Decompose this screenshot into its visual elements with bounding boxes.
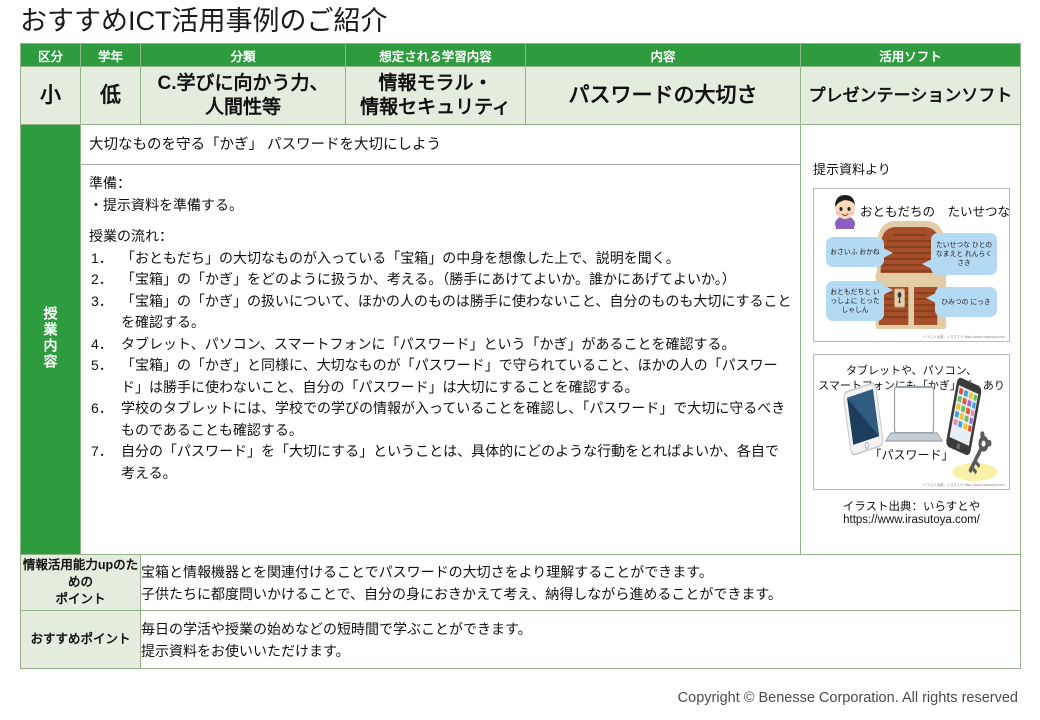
lesson-body: 準備： ・提示資料を準備する。 授業の流れ： 1．「おともだち」の大切なものが入… — [81, 165, 800, 490]
recommend-point-line-1: 提示資料をお使いいただけます。 — [141, 640, 1020, 662]
value-gakunen: 低 — [81, 67, 141, 125]
page-title: おすすめICT活用事例のご紹介 — [20, 3, 388, 39]
value-gakushu-line2: 情報セキュリティ — [346, 96, 525, 120]
callout-contact-text: たいせつな ひとの なまえと れんらくさき — [934, 241, 994, 268]
illustration-source-note: イラスト出典：いらすとや https://www.irasutoya.com/ — [813, 498, 1010, 526]
lesson-title: 大切なものを守る「かぎ」 パスワードを大切にしよう — [81, 125, 800, 165]
devices-graphic — [814, 355, 1009, 489]
step-number: 5． — [91, 355, 119, 377]
table-header-row: 区分 学年 分類 想定される学習内容 内容 活用ソフト — [21, 44, 1021, 67]
row-label-lesson-content: 授業内容 — [21, 125, 81, 555]
value-gakushu-naiyou: 情報モラル・ 情報セキュリティ — [346, 67, 526, 125]
value-bunrui-line2: 人間性等 — [141, 96, 345, 120]
lesson-body-cell: 大切なものを守る「かぎ」 パスワードを大切にしよう 準備： ・提示資料を準備する… — [81, 125, 801, 555]
lesson-steps-list: 1．「おともだち」の大切なものが入っている「宝箱」の中身を想像した上で、説明を聞… — [89, 248, 792, 485]
smartphone-icon — [945, 376, 982, 456]
laptop-icon — [886, 387, 943, 441]
list-item: 5．「宝箱」の「かぎ」と同様に、大切なものが「パスワード」で守られていること、ほ… — [89, 355, 792, 398]
media-caption: 提示資料より — [813, 159, 1010, 178]
bottom-row-skill-point: 情報活用能力upのための ポイント 宝箱と情報機器とを関連付けることでパスワード… — [21, 555, 1021, 611]
row-text-skill-point: 宝箱と情報機器とを関連付けることでパスワードの大切さをより理解することができます… — [141, 555, 1021, 611]
col-header-katsuyou-soft: 活用ソフト — [801, 44, 1021, 67]
callout-wallet: おさいふ おかね — [826, 237, 884, 267]
password-label: 「パスワード」 — [814, 446, 1009, 463]
copyright-footer: Copyright © Benesse Corporation. All rig… — [678, 690, 1018, 706]
lesson-content-row: 授業内容 大切なものを守る「かぎ」 パスワードを大切にしよう 準備： ・提示資料… — [21, 125, 1021, 555]
list-item: 3．「宝箱」の「かぎ」の扱いについて、ほかの人のものは勝手に使わないこと、自分の… — [89, 291, 792, 334]
row-label-skill-point: 情報活用能力upのための ポイント — [21, 555, 141, 611]
media-panel: 提示資料より — [801, 125, 1021, 555]
col-header-bunrui: 分類 — [141, 44, 346, 67]
bottom-row-recommend-point: おすすめポイント 毎日の学活や授業の始めなどの短時間で学ぶことができます。 提示… — [21, 611, 1021, 669]
value-katsuyou-soft: プレゼンテーションソフト — [801, 67, 1021, 125]
value-naiyou: パスワードの大切さ — [526, 67, 801, 125]
value-bunrui: C.学びに向かう力、 人間性等 — [141, 67, 346, 125]
callout-photo-text: おともだちと いっしょに とった しゃしん — [829, 288, 881, 315]
flow-heading: 授業の流れ： — [89, 226, 792, 248]
step-text: 学校のタブレットには、学校での学びの情報が入っていることを確認し、「パスワード」… — [121, 400, 785, 438]
col-header-gakushu-naiyou: 想定される学習内容 — [346, 44, 526, 67]
col-header-naiyou: 内容 — [526, 44, 801, 67]
slide-page: おすすめICT活用事例のご紹介 区分 学年 分類 想定される学習内容 内容 活用… — [0, 0, 1040, 720]
row-label-skill-point-line2: ポイント — [21, 591, 140, 608]
row-label-skill-point-line1: 情報活用能力upのための — [21, 557, 140, 591]
step-number: 7． — [91, 441, 119, 463]
illustration-treasure-chest: おともだちの たいせつなもの — [813, 188, 1010, 342]
illustration2-credit: イラスト出典：いらすとや https://www.irasutoya.com/ — [923, 482, 1005, 487]
step-number: 3． — [91, 291, 119, 313]
step-text: 「宝箱」の「かぎ」をどのように扱うか、考える。（勝手にあけてよいか。誰かにあげて… — [121, 271, 736, 287]
callout-wallet-text: おさいふ おかね — [830, 248, 879, 257]
step-text: 「宝箱」の「かぎ」の扱いについて、ほかの人のものは勝手に使わないこと、自分のもの… — [121, 293, 791, 331]
illustration-devices: タブレットや、パソコン、 スマートフォンにも「かぎ」が あります — [813, 354, 1010, 490]
step-text: 「おともだち」の大切なものが入っている「宝箱」の中身を想像した上で、説明を聞く。 — [121, 250, 680, 266]
illustration1-credit: イラスト出典：いらすとや https://www.irasutoya.com/ — [923, 334, 1005, 339]
row-label-recommend-point-line1: おすすめポイント — [21, 631, 140, 648]
row-text-recommend-point: 毎日の学活や授業の始めなどの短時間で学ぶことができます。 提示資料をお使いいただ… — [141, 611, 1021, 669]
list-item: 1．「おともだち」の大切なものが入っている「宝箱」の中身を想像した上で、説明を聞… — [89, 248, 792, 270]
callout-photo: おともだちと いっしょに とった しゃしん — [826, 281, 884, 321]
prep-heading: 準備： — [89, 173, 792, 195]
callout-contact: たいせつな ひとの なまえと れんらくさき — [931, 233, 997, 275]
callout-tail — [883, 248, 893, 258]
value-gakushu-line1: 情報モラル・ — [346, 72, 525, 96]
row-label-lesson-content-text: 授業内容 — [33, 306, 69, 370]
prep-item-0: ・提示資料を準備する。 — [89, 195, 792, 217]
step-text: タブレット、パソコン、スマートフォンに「パスワード」という「かぎ」があることを確… — [121, 336, 735, 352]
callout-tail — [922, 259, 932, 269]
skill-point-line-1: 子供たちに都度問いかけることで、自分の身におきかえて考え、納得しながら進めること… — [141, 583, 1020, 605]
callout-diary-text: ひみつの にっき — [941, 298, 990, 307]
callout-diary: ひみつの にっき — [935, 287, 997, 317]
callout-tail — [883, 285, 893, 295]
main-table: 区分 学年 分類 想定される学習内容 内容 活用ソフト 小 低 C.学びに向かう… — [20, 43, 1021, 669]
row-label-recommend-point: おすすめポイント — [21, 611, 141, 669]
value-bunrui-line1: C.学びに向かう力、 — [141, 72, 345, 96]
table-value-row: 小 低 C.学びに向かう力、 人間性等 情報モラル・ 情報セキュリティ パスワー… — [21, 67, 1021, 125]
step-number: 6． — [91, 398, 119, 420]
step-text: 「宝箱」の「かぎ」と同様に、大切なものが「パスワード」で守られていること、ほかの… — [121, 357, 778, 395]
list-item: 6．学校のタブレットには、学校での学びの情報が入っていることを確認し、「パスワー… — [89, 398, 792, 441]
value-kubun: 小 — [21, 67, 81, 125]
list-item: 7．自分の「パスワード」を「大切にする」ということは、具体的にどのような行動をと… — [89, 441, 792, 484]
list-item: 2．「宝箱」の「かぎ」をどのように扱うか、考える。（勝手にあけてよいか。誰かにあ… — [89, 269, 792, 291]
callout-tail — [926, 293, 936, 303]
col-header-gakunen: 学年 — [81, 44, 141, 67]
step-text: 自分の「パスワード」を「大切にする」ということは、具体的にどのような行動をとれば… — [121, 443, 779, 481]
step-number: 2． — [91, 269, 119, 291]
step-number: 4． — [91, 334, 119, 356]
recommend-point-line-0: 毎日の学活や授業の始めなどの短時間で学ぶことができます。 — [141, 618, 1020, 640]
col-header-kubun: 区分 — [21, 44, 81, 67]
skill-point-line-0: 宝箱と情報機器とを関連付けることでパスワードの大切さをより理解することができます… — [141, 561, 1020, 583]
spacer — [89, 216, 792, 226]
tablet-icon — [843, 382, 883, 455]
step-number: 1． — [91, 248, 119, 270]
list-item: 4．タブレット、パソコン、スマートフォンに「パスワード」という「かぎ」があること… — [89, 334, 792, 356]
